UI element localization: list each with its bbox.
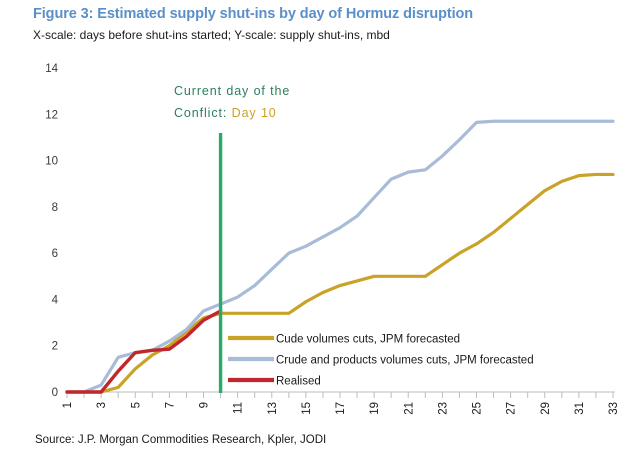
legend-label: Cude volumes cuts, JPM forecasted <box>276 334 460 346</box>
x-tick-label: 5 <box>130 402 142 408</box>
x-tick-label: 15 <box>301 402 313 415</box>
x-tick-label: 13 <box>267 402 279 415</box>
y-tick-label: 0 <box>52 387 58 399</box>
y-tick-label: 2 <box>52 341 58 353</box>
y-tick-label: 6 <box>52 248 58 260</box>
x-tick-label: 29 <box>540 402 552 415</box>
x-tick-label: 19 <box>369 402 381 415</box>
y-tick-label: 4 <box>52 294 59 306</box>
x-tick-label: 3 <box>96 402 108 408</box>
y-tick-label: 8 <box>52 202 58 214</box>
x-tick-label: 25 <box>472 402 484 415</box>
y-axis-tick-labels: 02468101214 <box>45 63 58 399</box>
annotation-day-value: Day 10 <box>232 106 277 120</box>
x-tick-label: 31 <box>574 402 586 415</box>
y-tick-label: 10 <box>45 156 58 168</box>
annotation-line-2: Conflict: Day 10 <box>174 106 277 120</box>
x-axis-tick-labels: 13579111315171921232527293133 <box>62 402 620 415</box>
x-tick-label: 23 <box>437 402 449 415</box>
line-chart: 02468101214 1357911131517192123252729313… <box>0 0 627 465</box>
annotation-line-1: Current day of the <box>174 84 290 98</box>
y-tick-label: 14 <box>45 63 58 75</box>
x-tick-label: 17 <box>335 402 347 415</box>
x-tick-label: 33 <box>608 402 620 415</box>
series-lines <box>67 121 613 392</box>
annotation-conflict-label: Conflict: <box>174 106 232 120</box>
annotation-current-day: Current day of theConflict: Day 10 <box>174 84 290 120</box>
x-tick-label: 27 <box>506 402 518 415</box>
x-tick-label: 9 <box>199 402 211 408</box>
legend-label: Realised <box>276 376 321 388</box>
x-axis-ticks <box>67 392 613 398</box>
y-tick-label: 12 <box>45 109 58 121</box>
figure-container: Figure 3: Estimated supply shut-ins by d… <box>0 0 627 465</box>
chart-legend: Cude volumes cuts, JPM forecastedCrude a… <box>228 334 534 388</box>
x-tick-label: 7 <box>164 402 176 408</box>
x-tick-label: 1 <box>62 402 74 408</box>
x-tick-label: 11 <box>233 402 245 414</box>
x-tick-label: 21 <box>403 402 415 415</box>
legend-label: Crude and products volumes cuts, JPM for… <box>276 355 534 367</box>
